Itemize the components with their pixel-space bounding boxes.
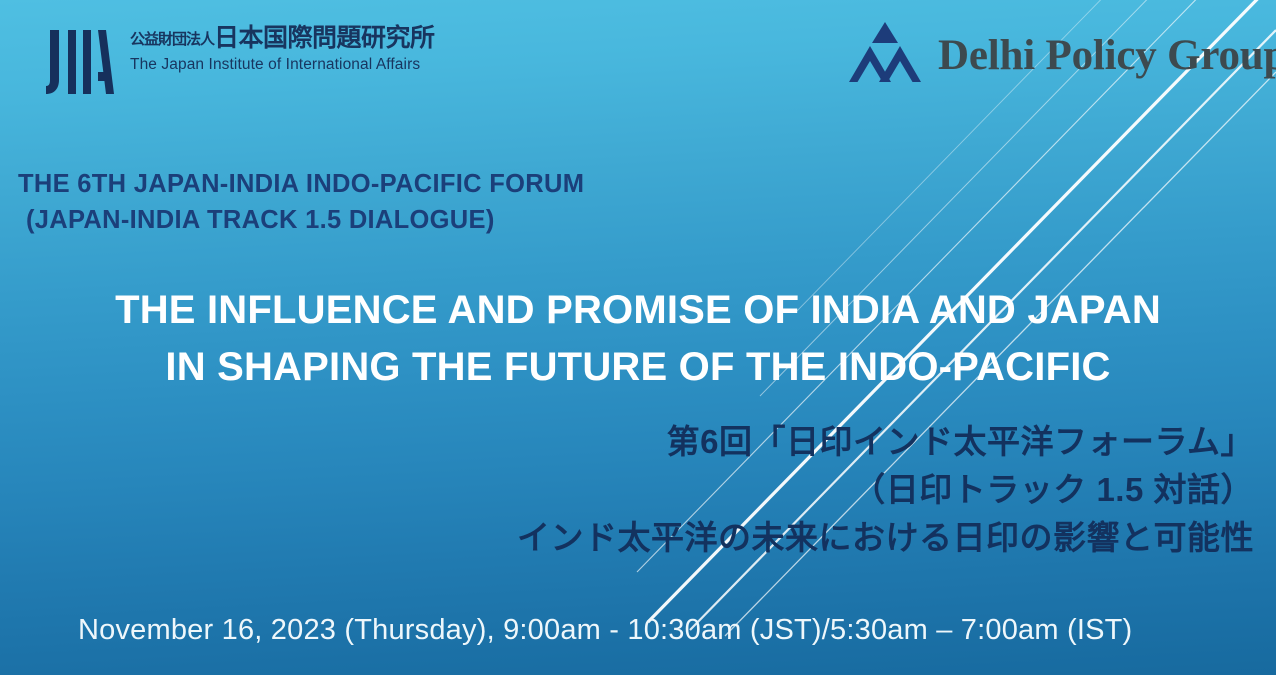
jiia-wordmark-icon xyxy=(42,22,120,100)
jiia-japanese-prefix: 公益財団法人 xyxy=(130,31,214,48)
event-subtitle: THE 6TH JAPAN-INDIA INDO-PACIFIC FORUM (… xyxy=(18,166,584,238)
event-title-japanese-line3: インド太平洋の未来における日印の影響と可能性 xyxy=(354,514,1254,562)
event-title-line1: THE INFLUENCE AND PROMISE OF INDIA AND J… xyxy=(0,282,1276,339)
delhi-policy-group-logo: Delhi Policy Group xyxy=(848,18,1276,92)
event-datetime: November 16, 2023 (Thursday), 9:00am - 1… xyxy=(78,612,1132,650)
conference-banner: 公益財団法人日本国際問題研究所 The Japan Institute of I… xyxy=(0,0,1276,675)
jiia-japanese-main: 日本国際問題研究所 xyxy=(214,24,435,52)
event-title-line2: IN SHAPING THE FUTURE OF THE INDO-PACIFI… xyxy=(0,339,1276,396)
jiia-logo: 公益財団法人日本国際問題研究所 The Japan Institute of I… xyxy=(42,22,435,100)
jiia-english-name: The Japan Institute of International Aff… xyxy=(130,57,420,73)
event-title-japanese-line2: （日印トラック 1.5 対話） xyxy=(354,466,1254,514)
jiia-japanese-name: 公益財団法人日本国際問題研究所 xyxy=(130,26,435,51)
event-title-japanese: 第6回「日印インド太平洋フォーラム」 （日印トラック 1.5 対話） インド太平… xyxy=(354,418,1254,562)
dpg-triangle-icon xyxy=(848,18,922,92)
dpg-name: Delhi Policy Group xyxy=(938,34,1276,77)
event-title-japanese-line1: 第6回「日印インド太平洋フォーラム」 xyxy=(354,418,1254,466)
event-subtitle-line1: THE 6TH JAPAN-INDIA INDO-PACIFIC FORUM xyxy=(18,170,584,198)
logo-row: 公益財団法人日本国際問題研究所 The Japan Institute of I… xyxy=(0,0,1276,115)
event-subtitle-line2: (JAPAN-INDIA TRACK 1.5 DIALOGUE) xyxy=(18,202,584,238)
jiia-text-block: 公益財団法人日本国際問題研究所 The Japan Institute of I… xyxy=(130,26,435,73)
event-title: THE INFLUENCE AND PROMISE OF INDIA AND J… xyxy=(0,282,1276,396)
